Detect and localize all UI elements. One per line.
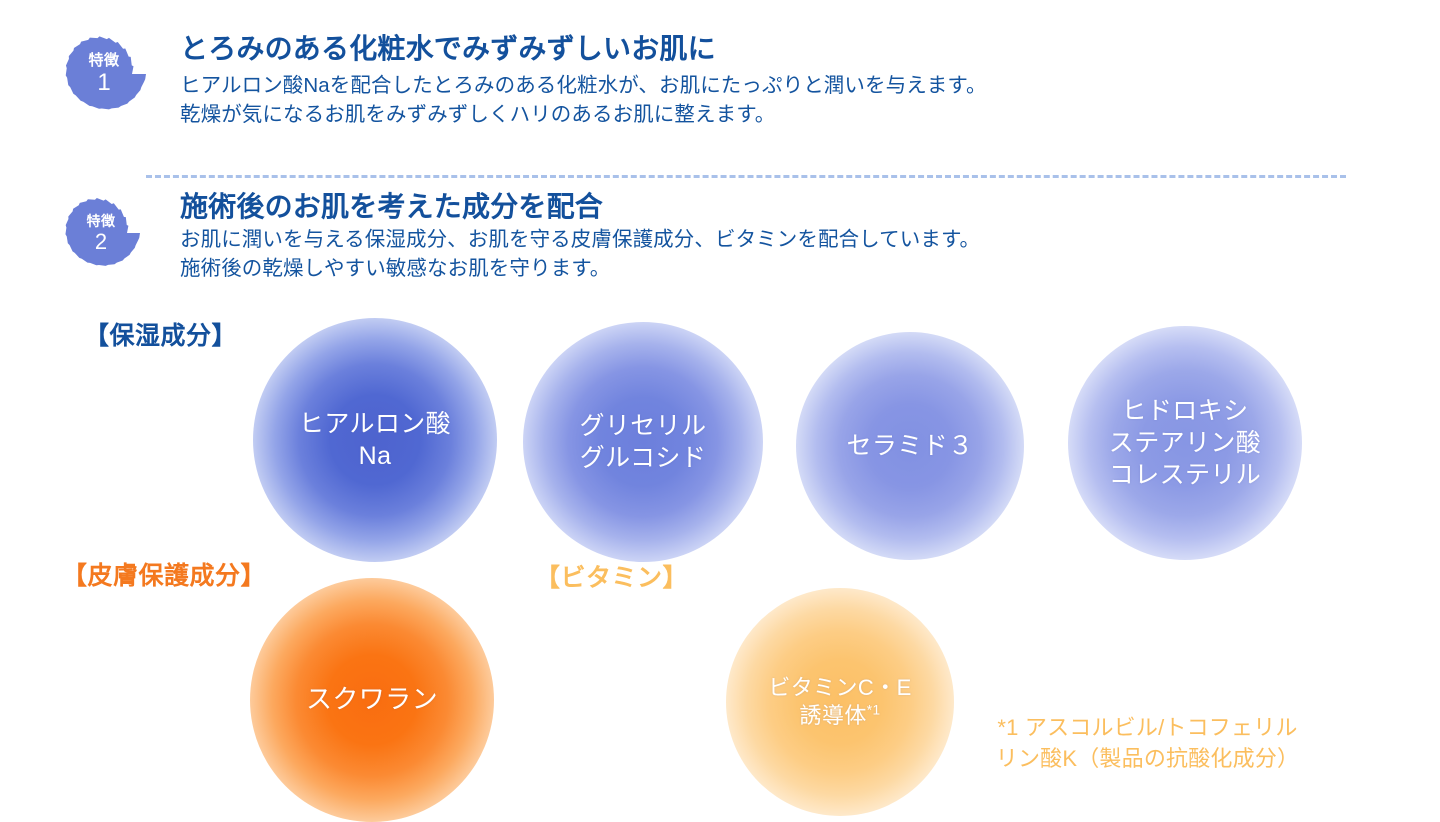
feature-body-line2: 施術後の乾燥しやすい敏感なお肌を守ります。 <box>180 254 980 283</box>
group-label-skin-protection: 【皮膚保護成分】 <box>62 556 266 592</box>
badge-number: 2 <box>95 231 107 253</box>
feature-text-1: とろみのある化粧水でみずみずしいお肌に ヒアルロン酸Naを配合したとろみのある化… <box>180 32 987 129</box>
feature-body-line2: 乾燥が気になるお肌をみずみずしくハリのあるお肌に整えます。 <box>180 100 987 129</box>
footnote-marker: *1 <box>867 703 881 718</box>
ingredient-bubble-squalane: スクワラン <box>250 578 494 822</box>
feature-block-1: 特徴 1 とろみのある化粧水でみずみずしいお肌に ヒアルロン酸Naを配合したとろ… <box>62 32 987 129</box>
ingredient-bubble-cholesteryl-hydroxystearate: ヒドロキシ ステアリン酸 コレステリル <box>1068 326 1302 560</box>
ingredient-bubble-hyaluronic-acid-na: ヒアルロン酸 Na <box>253 318 497 562</box>
ingredient-label: グリセリル グルコシド <box>579 410 706 474</box>
ingredient-label: セラミド３ <box>846 430 973 462</box>
ingredient-label-line1: ビタミンC・E <box>768 675 911 700</box>
ingredient-label: スクワラン <box>306 683 438 716</box>
badge-label: 特徴 <box>88 53 119 68</box>
group-label-vitamin: 【ビタミン】 <box>535 558 688 594</box>
feature-badge-1: 特徴 1 <box>62 32 146 116</box>
ingredient-label: ヒドロキシ ステアリン酸 コレステリル <box>1109 395 1261 491</box>
footnote-text: *1 アスコルビル/トコフェリル リン酸K（製品の抗酸化成分） <box>945 712 1350 774</box>
feature-badge-2: 特徴 2 <box>62 194 140 272</box>
dashed-divider <box>146 175 1346 178</box>
feature-text-2: 施術後のお肌を考えた成分を配合 お肌に潤いを与える保湿成分、お肌を守る皮膚保護成… <box>180 190 980 283</box>
ingredient-label: ヒアルロン酸 Na <box>299 408 451 472</box>
ingredient-bubble-vitamin-c-e-derivative: ビタミンC・E誘導体*1 <box>726 588 954 816</box>
feature-title: とろみのある化粧水でみずみずしいお肌に <box>180 32 987 65</box>
feature-body-line1: ヒアルロン酸Naを配合したとろみのある化粧水が、お肌にたっぷりと潤いを与えます。 <box>180 71 987 100</box>
ingredient-label: ビタミンC・E誘導体*1 <box>768 674 911 730</box>
ingredient-label-line2: 誘導体 <box>800 703 867 728</box>
feature-body-line1: お肌に潤いを与える保湿成分、お肌を守る皮膚保護成分、ビタミンを配合しています。 <box>180 225 980 254</box>
feature-title: 施術後のお肌を考えた成分を配合 <box>180 190 980 223</box>
ingredient-bubble-glyceryl-glucoside: グリセリル グルコシド <box>523 322 763 562</box>
ingredient-bubble-ceramide-3: セラミド３ <box>796 332 1024 560</box>
badge-label: 特徴 <box>87 214 116 228</box>
feature-block-2: 特徴 2 施術後のお肌を考えた成分を配合 お肌に潤いを与える保湿成分、お肌を守る… <box>62 190 980 283</box>
group-label-moisturizing: 【保湿成分】 <box>84 316 237 352</box>
badge-number: 1 <box>97 71 110 95</box>
